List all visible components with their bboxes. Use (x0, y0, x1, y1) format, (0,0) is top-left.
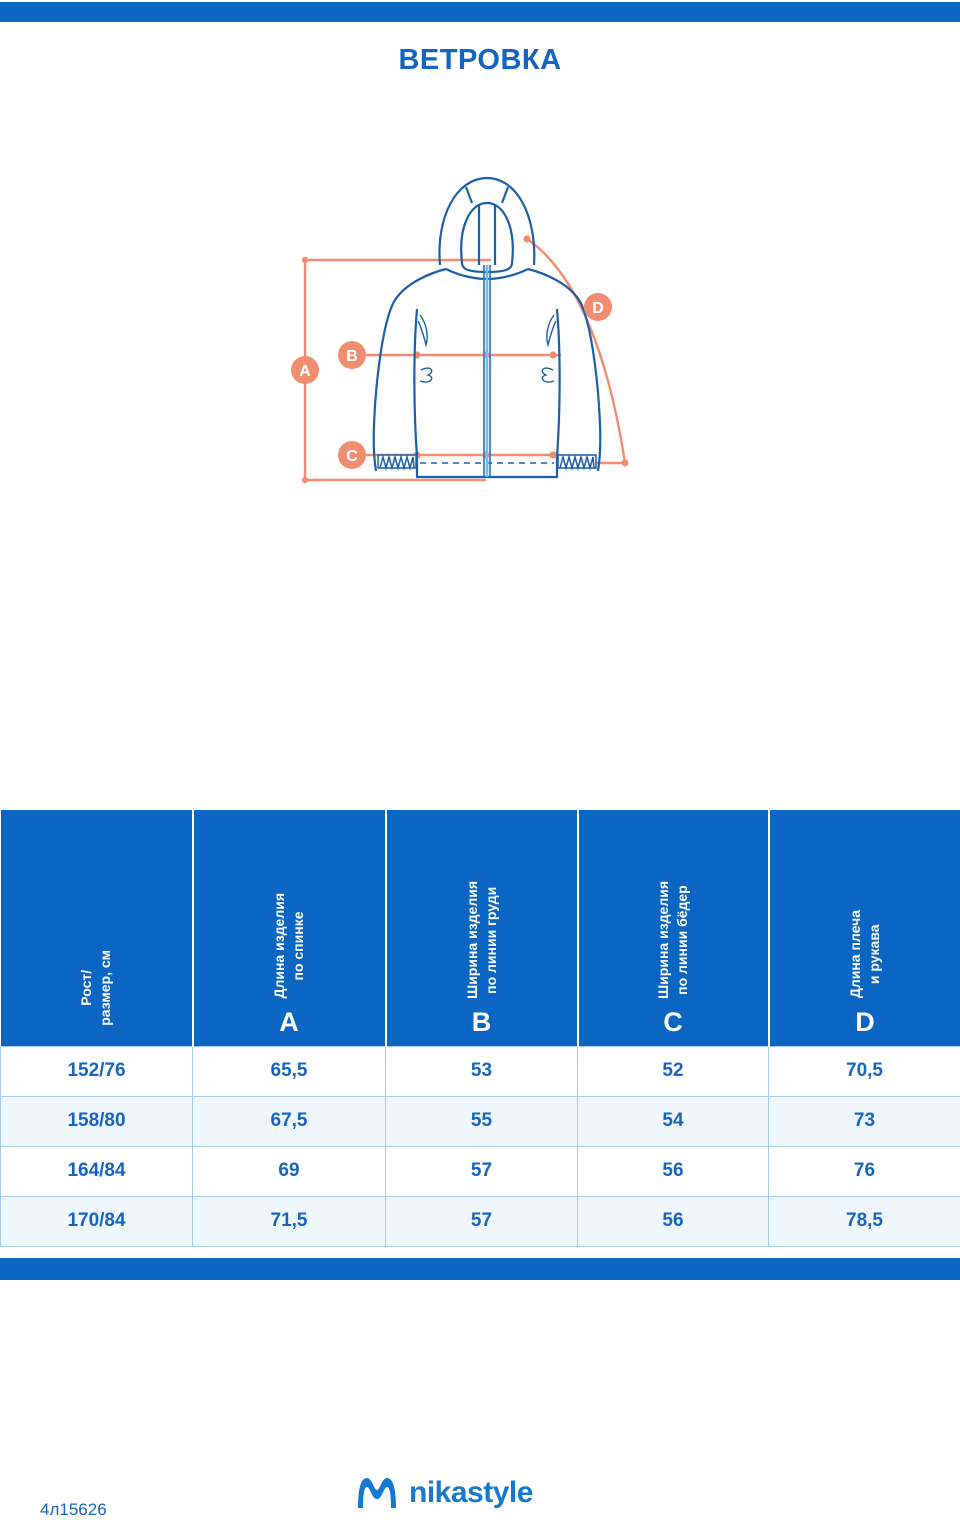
cell-a: 65,5 (193, 1046, 386, 1096)
header-cell-c: Ширина изделия по линии бёдер C (578, 810, 769, 1046)
cell-d: 70,5 (769, 1046, 960, 1096)
header-letter: D (855, 1009, 875, 1036)
zipper-group (484, 265, 490, 477)
page-title: ВЕТРОВКА (0, 44, 960, 77)
cell-size: 164/84 (1, 1146, 193, 1196)
brand-row: 4л15626 nikastyle (0, 735, 960, 805)
cuff-left (378, 455, 416, 468)
body-left-side (374, 269, 446, 471)
hood-seam-left (466, 187, 472, 203)
header-cell-a: Длина изделия по спинке A (193, 810, 386, 1046)
cell-b: 57 (386, 1146, 578, 1196)
cell-d: 73 (769, 1096, 960, 1146)
table-row: 152/76 65,5 53 52 70,5 (1, 1046, 960, 1096)
header-letter: A (279, 1009, 299, 1036)
table-header-row: Рост/ размер, см Длина изделия по спинке… (1, 810, 960, 1046)
top-accent-bar (0, 2, 960, 22)
cell-d: 76 (769, 1146, 960, 1196)
header-cell-d: Длина плеча и рукава D (769, 810, 960, 1046)
sleeve-seam-right (557, 309, 560, 457)
cell-size: 152/76 (1, 1046, 193, 1096)
jacket-diagram-svg: A B C D (280, 165, 660, 510)
cell-d: 78,5 (769, 1196, 960, 1246)
header-caption: Ширина изделия по линии бёдер (654, 881, 692, 999)
marker-badge-d: D (584, 293, 612, 321)
table-row: 164/84 69 57 56 76 (1, 1146, 960, 1196)
cell-c: 54 (578, 1096, 769, 1146)
jacket-diagram: A B C D (280, 165, 660, 510)
brand-name: nikastyle (409, 1476, 533, 1510)
header-letter: B (472, 1009, 492, 1036)
hood-seam-right (502, 187, 508, 203)
marker-badge-c: C (338, 441, 366, 469)
svg-text:C: C (346, 448, 358, 465)
svg-text:D: D (592, 300, 604, 317)
header-cell-size: Рост/ размер, см (1, 810, 193, 1046)
svg-text:A: A (299, 363, 311, 380)
cell-size: 158/80 (1, 1096, 193, 1146)
cell-b: 53 (386, 1046, 578, 1096)
cell-a: 69 (193, 1146, 386, 1196)
cell-a: 71,5 (193, 1196, 386, 1246)
cell-c: 56 (578, 1196, 769, 1246)
marker-badge-b: B (338, 341, 366, 369)
header-caption: Длина изделия по спинке (270, 893, 308, 999)
cell-size: 170/84 (1, 1196, 193, 1246)
cuff-right (558, 455, 596, 468)
cell-a: 67,5 (193, 1096, 386, 1146)
header-caption: Рост/ размер, см (77, 950, 115, 1026)
header-caption: Ширина изделия по линии груди (463, 881, 501, 999)
brand-logo: nikastyle (355, 1475, 533, 1511)
bottom-accent-bar (0, 1258, 960, 1280)
cell-c: 52 (578, 1046, 769, 1096)
nikastyle-mark-icon (355, 1475, 399, 1511)
header-letter: C (663, 1009, 683, 1036)
sleeve-seam-left (414, 309, 417, 457)
hood-outer (439, 178, 534, 265)
article-number: 4л15626 (40, 1500, 107, 1520)
marker-badge-a: A (291, 356, 319, 384)
table-row: 158/80 67,5 55 54 73 (1, 1096, 960, 1146)
header-caption: Длина плеча и рукава (846, 910, 884, 998)
svg-text:B: B (346, 348, 358, 365)
header-cell-b: Ширина изделия по линии груди B (386, 810, 578, 1046)
cell-b: 55 (386, 1096, 578, 1146)
cell-c: 56 (578, 1146, 769, 1196)
cell-b: 57 (386, 1196, 578, 1246)
hood-face-opening (461, 203, 513, 272)
size-chart-table: Рост/ размер, см Длина изделия по спинке… (0, 810, 960, 1247)
table-row: 170/84 71,5 57 56 78,5 (1, 1196, 960, 1246)
